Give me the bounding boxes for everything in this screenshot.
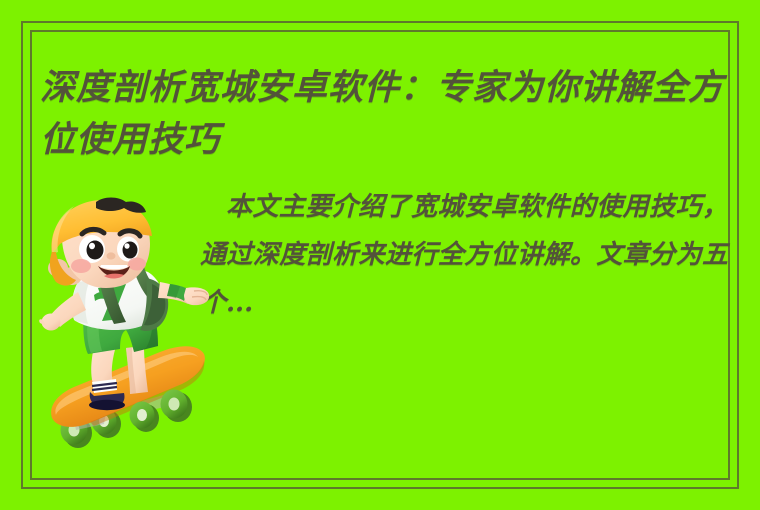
- page-title: 深度剖析宽城安卓软件：专家为你讲解全方位使用技巧: [40, 62, 730, 166]
- article-card: 深度剖析宽城安卓软件：专家为你讲解全方位使用技巧 本文主要介绍了宽城安卓软件的使…: [0, 0, 760, 510]
- article-summary: 本文主要介绍了宽城安卓软件的使用技巧，通过深度剖析来进行全方位讲解。文章分为五个…: [200, 183, 728, 327]
- hand-left: [42, 314, 61, 331]
- boy-on-skateboard-illustration: [34, 196, 210, 462]
- cheek-right: [128, 258, 146, 271]
- head: [48, 198, 152, 289]
- cheek-left: [71, 259, 91, 273]
